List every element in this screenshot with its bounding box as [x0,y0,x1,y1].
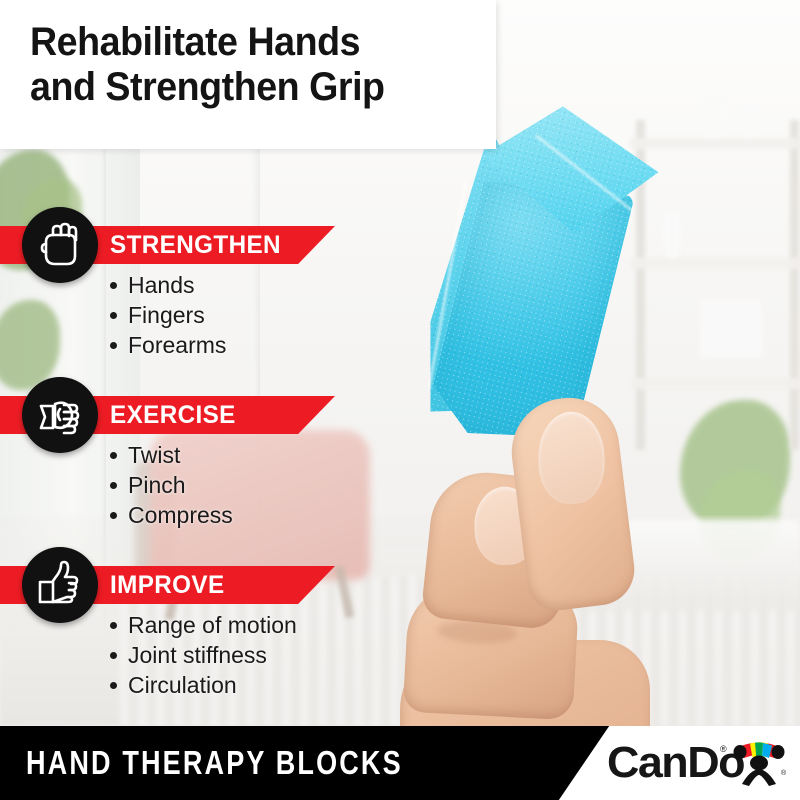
thumbs-up-icon [36,560,84,610]
product-hand-with-block [380,60,800,740]
fist-icon [36,220,84,270]
feature-bullet-list: Hands Fingers Forearms [108,270,226,360]
list-item: Hands [108,270,226,300]
feature-title: EXERCISE [110,396,236,434]
footer-bar: HAND THERAPY BLOCKS CanDo ® ® [0,726,800,800]
page-title: Rehabilitate Handsand Strengthen Grip [30,20,453,110]
list-item: Range of motion [108,610,297,640]
list-item: Forearms [108,330,226,360]
headline-line-1: Rehabilitate Hands [30,20,360,64]
product-marketing-image: Rehabilitate Handsand Strengthen Grip ST… [0,0,800,800]
registered-mark: ® [720,744,727,754]
feature-bullet-list: Range of motion Joint stiffness Circulat… [108,610,297,700]
feature-title: IMPROVE [110,566,225,604]
feature-icon-badge [22,207,98,283]
feature-bullet-list: Twist Pinch Compress [108,440,233,530]
list-item: Twist [108,440,233,470]
list-item: Circulation [108,670,297,700]
cando-person-figure-icon [733,740,785,786]
squeezing-hand-icon [36,390,84,440]
product-name: HAND THERAPY BLOCKS [26,726,403,800]
headline-panel: Rehabilitate Handsand Strengthen Grip [0,0,496,149]
cando-logo: CanDo ® ® [535,726,800,800]
logo-wordmark: CanDo [607,734,744,792]
list-item: Pinch [108,470,233,500]
figure-registered-mark: ® [781,770,786,777]
list-item: Compress [108,500,233,530]
feature-title: STRENGTHEN [110,226,281,264]
feature-icon-badge [22,547,98,623]
headline-line-2: and Strengthen Grip [30,65,385,109]
feature-icon-badge [22,377,98,453]
list-item: Fingers [108,300,226,330]
list-item: Joint stiffness [108,640,297,670]
